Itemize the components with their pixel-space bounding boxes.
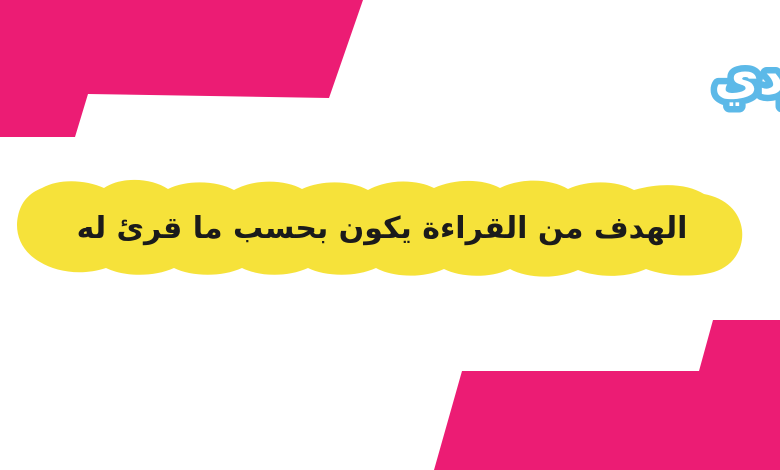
quote-text: الهدف من القراءة يكون بحسب ما قرئ له [77, 212, 688, 245]
top-left-pink-shape [0, 0, 363, 137]
watermark-logo-text-fill: الحلم السعودي [714, 49, 780, 106]
watermark-logo: الحلم السعودي الحلم السعودي [418, 36, 718, 116]
quote-line: الهدف من القراءة يكون بحسب ما قرئ له [12, 176, 752, 280]
watermark-logo-svg: الحلم السعودي الحلم السعودي [418, 36, 718, 116]
bottom-right-pink-shape [434, 320, 780, 470]
quote-card: الحلم السعودي الحلم السعودي الهدف من الق… [0, 0, 780, 470]
